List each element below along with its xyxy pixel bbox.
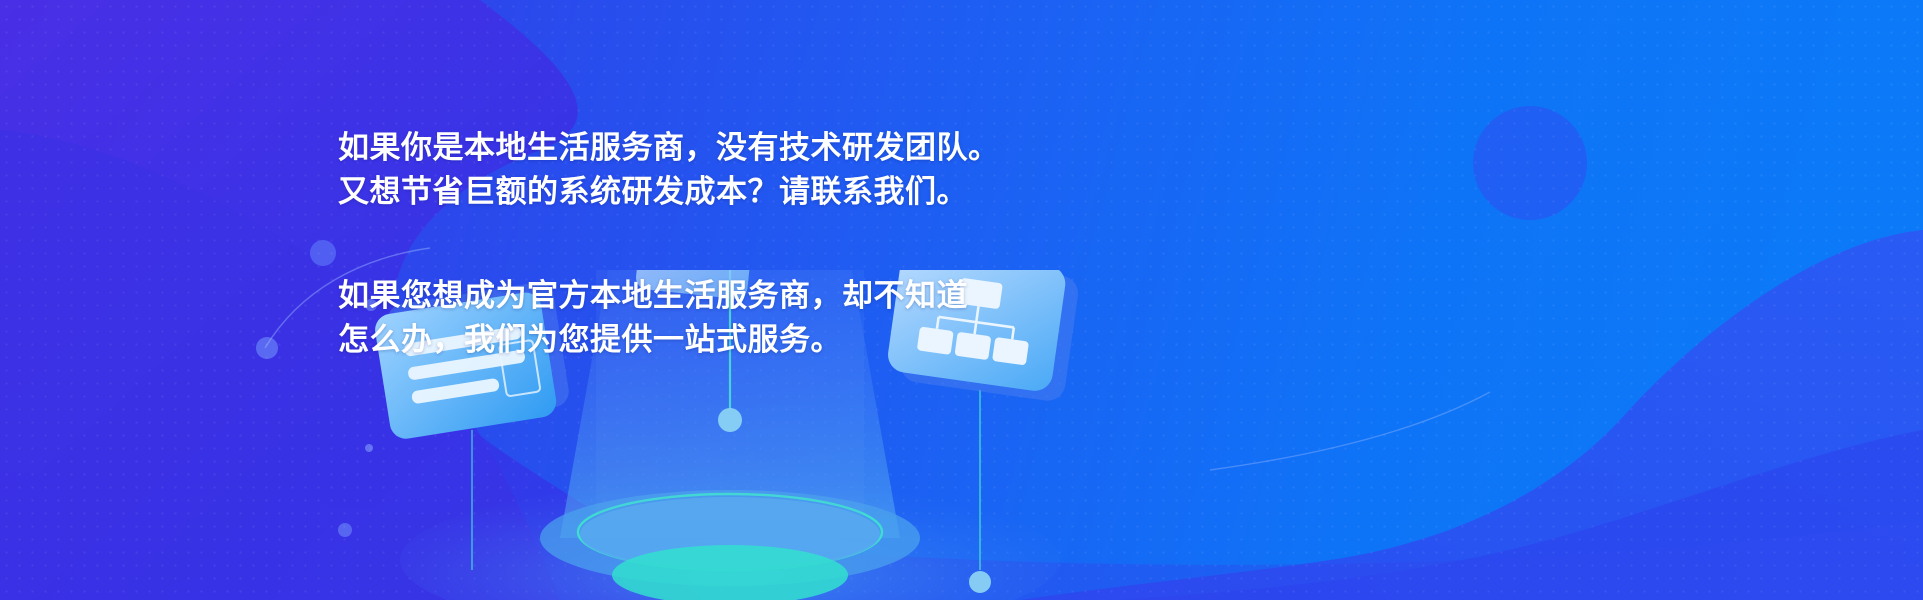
decorative-circle-dot-3 — [338, 523, 352, 537]
paragraph-1: 如果你是本地生活服务商，没有技术研发团队。 又想节省巨额的系统研发成本？请联系我… — [338, 126, 1238, 214]
paragraph-2-line-1: 如果您想成为官方本地生活服务商，却不知道 — [338, 274, 1238, 318]
decorative-circle-small — [310, 240, 336, 266]
connector-node — [969, 571, 991, 593]
banner-copy: 如果你是本地生活服务商，没有技术研发团队。 又想节省巨额的系统研发成本？请联系我… — [338, 126, 1238, 362]
paragraph-2: 如果您想成为官方本地生活服务商，却不知道 怎么办，我们为您提供一站式服务。 — [338, 274, 1238, 362]
hero-banner: 如果你是本地生活服务商，没有技术研发团队。 又想节省巨额的系统研发成本？请联系我… — [0, 0, 1923, 600]
paragraph-1-line-2: 又想节省巨额的系统研发成本？请联系我们。 — [338, 170, 1238, 214]
decorative-circle-tiny — [256, 337, 278, 359]
decorative-circle-large — [1473, 106, 1587, 220]
paragraph-2-line-2: 怎么办，我们为您提供一站式服务。 — [338, 318, 1238, 362]
decorative-arc-right — [1210, 392, 1490, 470]
paragraph-1-line-1: 如果你是本地生活服务商，没有技术研发团队。 — [338, 126, 1238, 170]
